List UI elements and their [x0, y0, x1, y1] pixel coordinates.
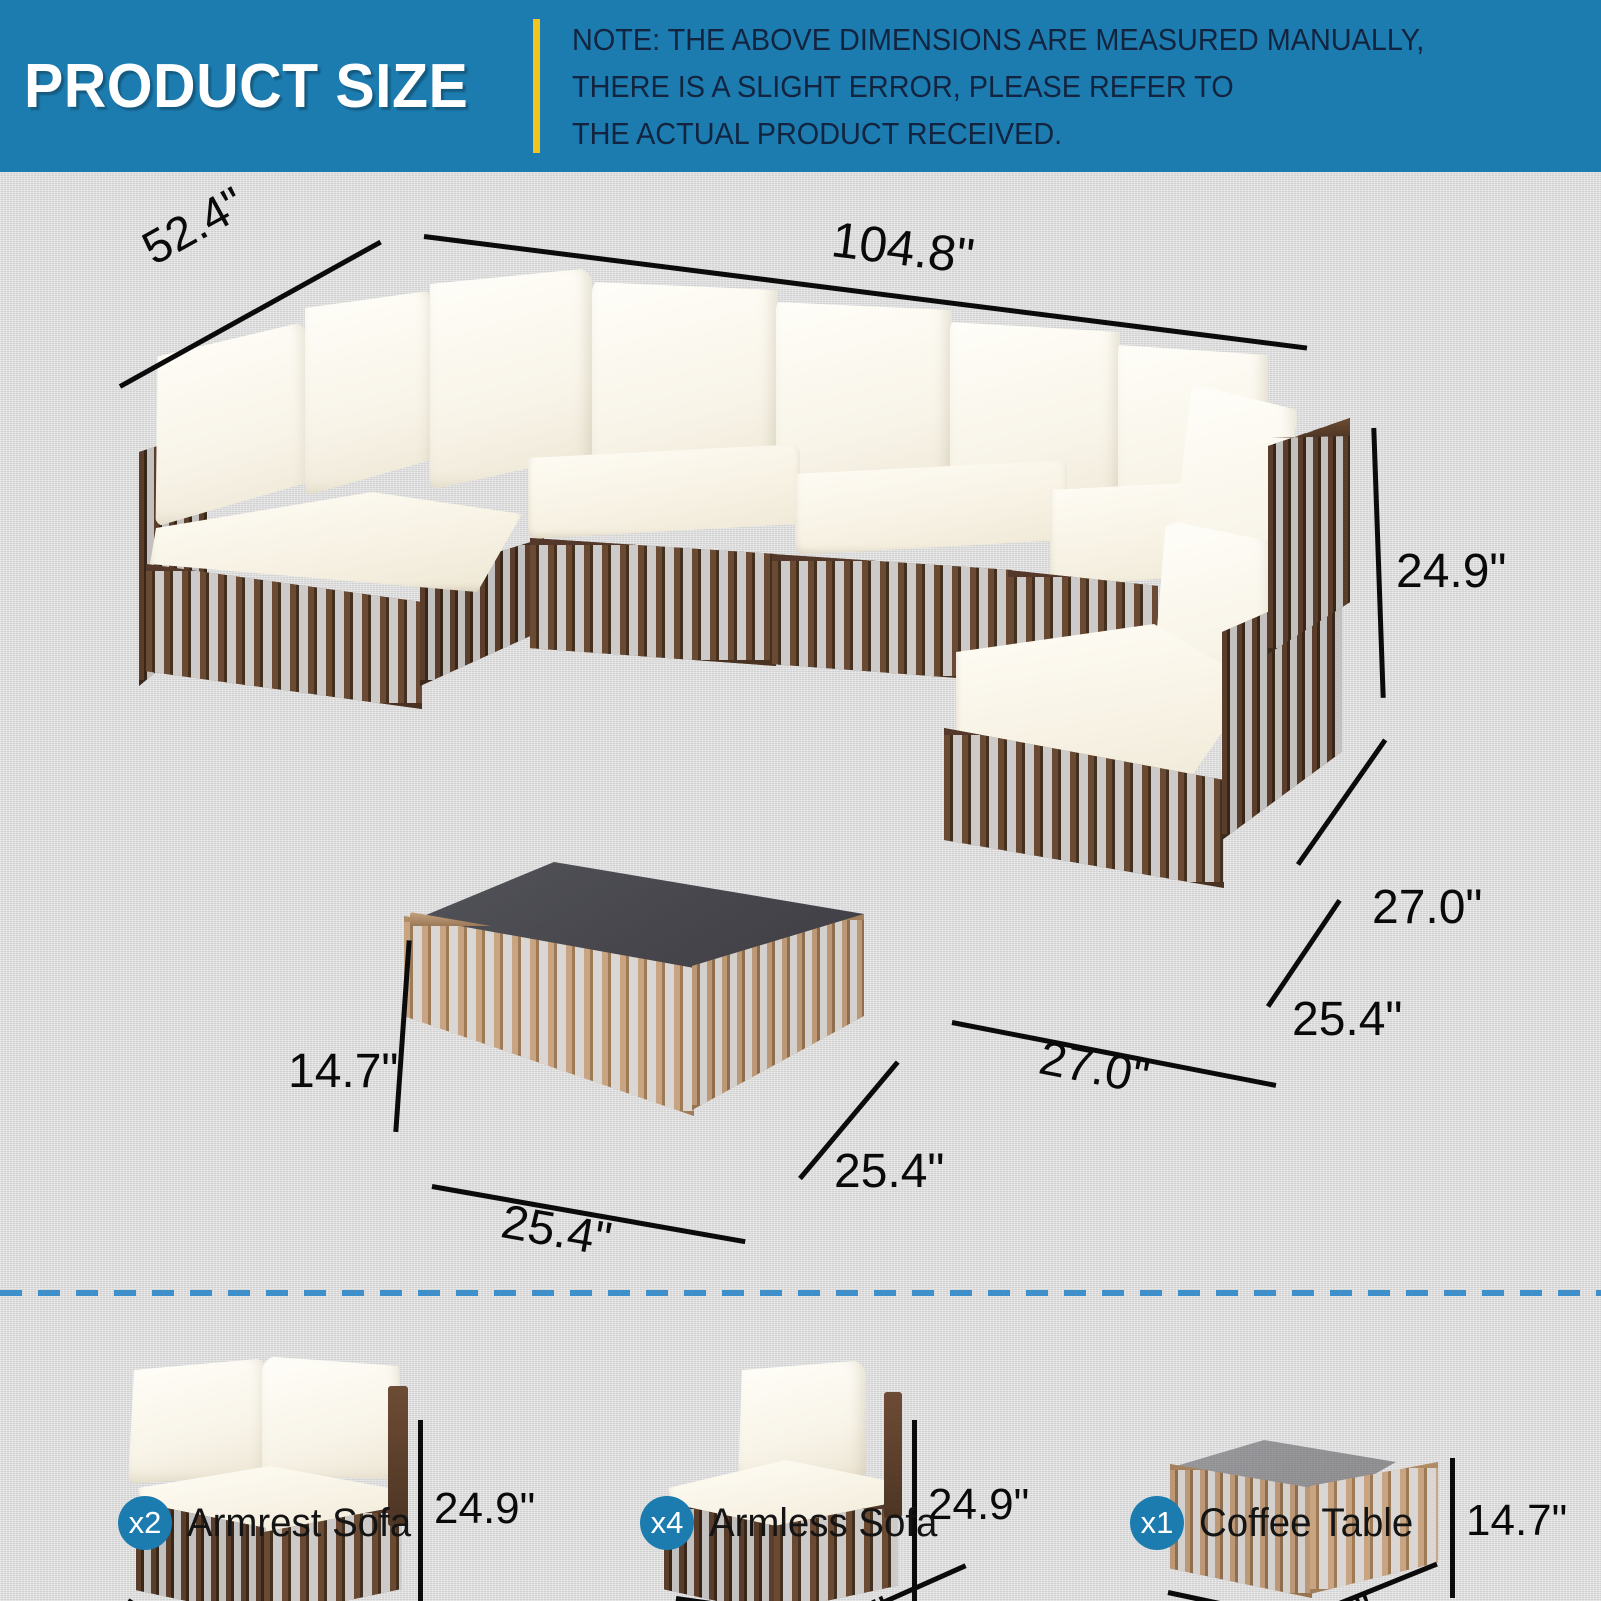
section-divider	[0, 1290, 1601, 1296]
dimlabel-table-height: 14.7"	[288, 1044, 398, 1099]
note-line-3: THE ACTUAL PRODUCT RECEIVED.	[572, 110, 1424, 157]
dimline-table-legend-height	[1450, 1458, 1455, 1598]
diagram-canvas: 52.4" 104.8" 24.9" 27.0" 25.4" 27.0" 14.…	[0, 172, 1601, 1601]
note-line-2: THERE IS A SLIGHT ERROR, PLEASE REFER TO	[572, 63, 1424, 110]
legend-label-armless: Armless Sofa	[709, 1501, 937, 1546]
dimlabel-module-width-right: 25.4"	[1292, 992, 1402, 1047]
corner-back-cushion-left	[149, 321, 314, 526]
seat-cushion-1	[528, 444, 800, 539]
legend-badge-coffee-table: x1	[1130, 1496, 1184, 1550]
legend-label-coffee-table: Coffee Table	[1199, 1501, 1413, 1546]
armrest-back-cushion-left	[128, 1358, 268, 1484]
header-banner: PRODUCT SIZE NOTE: THE ABOVE DIMENSIONS …	[0, 0, 1601, 172]
dimlabel-chaise-width: 27.0"	[1035, 1031, 1154, 1106]
page-title: PRODUCT SIZE	[24, 51, 504, 122]
dimlabel-height-right: 24.9"	[1396, 544, 1506, 599]
corner-back-cushion-right	[305, 290, 435, 496]
dimlabel-table-depth: 25.4"	[834, 1144, 944, 1199]
dimline-table-height	[393, 940, 411, 1132]
legend-item-coffee-table[interactable]: x1 Coffee Table	[1130, 1496, 1422, 1550]
dimline-height-right	[1371, 428, 1385, 698]
dimlabel-table-width: 25.4"	[497, 1194, 615, 1267]
header-divider	[533, 19, 540, 153]
corner-front-panel	[146, 564, 422, 709]
dimlabel-depth-left: 52.4"	[133, 175, 254, 276]
armrest-back-cushion-right	[262, 1356, 404, 1484]
header-note: NOTE: THE ABOVE DIMENSIONS ARE MEASURED …	[572, 16, 1424, 157]
front-panel-1	[530, 538, 776, 666]
note-line-1: NOTE: THE ABOVE DIMENSIONS ARE MEASURED …	[572, 16, 1424, 63]
legend-label-armrest: Armrest Sofa	[187, 1501, 411, 1546]
legend-badge-armrest: x2	[118, 1496, 172, 1550]
seat-cushion-2	[795, 460, 1067, 555]
dimlabel-table-legend-height: 14.7"	[1466, 1496, 1567, 1546]
dimlabel-armrest-height: 24.9"	[434, 1484, 535, 1534]
legend-badge-armless: x4	[640, 1496, 694, 1550]
legend-item-armrest-sofa[interactable]: x2 Armrest Sofa	[118, 1496, 420, 1550]
legend-item-armless-sofa[interactable]: x4 Armless Sofa	[640, 1496, 947, 1550]
dimlabel-seat-depth-right: 27.0"	[1372, 880, 1482, 935]
dimlabel-width-top: 104.8"	[828, 210, 977, 285]
